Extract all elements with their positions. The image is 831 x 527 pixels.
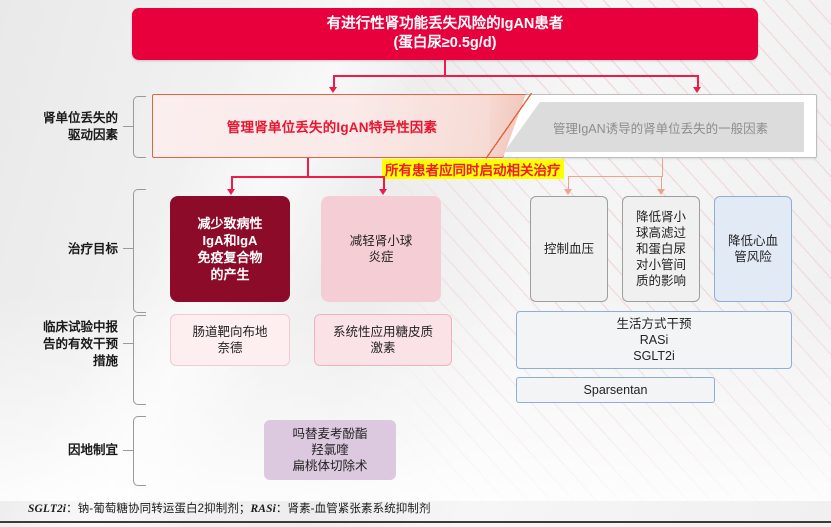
trial-box-lifestyle-rasi-sglt2i: 生活方式干预 RASi SGLT2i [516,311,792,369]
arrow-goal-reduce-inflammation [379,189,387,195]
arrow-band-right [693,87,701,93]
patient-population-line1: 有进行性肾功能丢失风险的IgAN患者 [327,15,564,34]
connector-right-horizontal [568,176,663,177]
slide-canvas: 有进行性肾功能丢失风险的IgAN患者 (蛋白尿≥0.5g/d) 管理IgAN诱导… [0,0,831,527]
bracket-stub-trials [123,343,133,344]
connector-top-stem [444,60,446,76]
connector-bp-drop [568,176,569,190]
arrow-band-left [329,87,337,93]
goal-box-reduce-cv-risk-text: 降低心血 管风险 [728,233,778,265]
patient-population-line2: (蛋白尿≥0.5g/d) [327,34,564,53]
trial-box-budesonide: 肠道靶向布地 奈德 [170,314,290,366]
footnote-def-rasi: ：肾素-血管紧张素系统抑制剂 [276,503,431,515]
goal-box-reduce-cv-risk: 降低心血 管风险 [714,196,792,302]
footnote: SGLT2i：钠-葡萄糖协同转运蛋白2抑制剂；RASi：肾素-血管紧张素系统抑制… [28,500,808,516]
connector-hyperfiltration-drop [661,176,662,190]
connector-goal1-drop [231,176,233,190]
bracket-goals [133,189,146,313]
connector-goal2-drop [383,176,385,190]
arrow-goal-reduce-hyperfiltration [657,189,665,195]
goal-box-control-bp: 控制血压 [530,196,608,302]
band-general-factors-label: 管理IgAN诱导的肾单位丢失的一般因素 [504,95,817,159]
band-specific-factors-label: 管理肾单位丢失的IgAN特异性因素 [182,94,482,158]
trial-box-corticosteroids-text: 系统性应用糖皮质 激素 [333,324,433,356]
footer-rule [0,521,831,523]
side-label-drivers: 肾单位丢失的 驱动因素 [14,100,118,154]
bracket-local [133,416,146,486]
trial-box-sparsentan: Sparsentan [516,377,715,403]
bracket-stub-drivers [123,126,133,127]
trial-box-sparsentan-text: Sparsentan [584,382,648,398]
goal-box-reduce-hyperfiltration-text: 降低肾小 球高滤过 和蛋白尿 对小管间 质的影响 [636,209,686,289]
goal-box-control-bp-text: 控制血压 [544,241,594,257]
footnote-abbr-rasi: RASi [251,503,276,515]
goal-box-reduce-inflammation-text: 减轻肾小球 炎症 [350,233,413,265]
band-general-factors-panel: 管理IgAN诱导的肾单位丢失的一般因素 [504,94,817,158]
bracket-drivers [133,96,146,158]
goal-box-reduce-iga: 减少致病性 IgA和IgA 免疫复合物 的产生 [170,196,290,302]
connector-top-horizontal [333,75,699,77]
side-label-trials: 临床试验中报 告的有效干预 措施 [8,318,118,370]
bracket-stub-local [123,450,133,451]
patient-population-box: 有进行性肾功能丢失风险的IgAN患者 (蛋白尿≥0.5g/d) [132,8,758,60]
footnote-abbr-sglt2i: SGLT2i [28,503,66,515]
goal-box-reduce-hyperfiltration: 降低肾小 球高滤过 和蛋白尿 对小管间 质的影响 [622,196,700,302]
connector-left-stem [307,158,309,177]
local-box-options-text: 吗替麦考酚酯 羟氯喹 扁桃体切除术 [292,426,367,474]
trial-box-budesonide-text: 肠道靶向布地 奈德 [192,324,267,356]
arrow-goal-reduce-iga [227,189,235,195]
bracket-stub-goals [123,248,133,249]
goal-box-reduce-iga-text: 减少致病性 IgA和IgA 免疫复合物 的产生 [197,215,262,283]
goal-box-reduce-inflammation: 减轻肾小球 炎症 [321,196,441,302]
arrow-goal-control-bp [564,189,572,195]
trial-box-corticosteroids: 系统性应用糖皮质 激素 [314,314,452,366]
connector-right-stem [662,158,663,177]
highlight-note: 所有患者应同时启动相关治疗 [382,159,564,179]
footnote-def-sglt2i: ：钠-葡萄糖协同转运蛋白2抑制剂； [66,503,250,515]
bracket-trials [133,315,146,405]
side-label-local: 因地制宜 [14,440,118,460]
trial-box-lifestyle-rasi-sglt2i-text: 生活方式干预 RASi SGLT2i [616,316,691,364]
connector-left-horizontal [231,176,385,178]
management-band: 管理IgAN诱导的肾单位丢失的一般因素 管理肾单位丢失的IgAN特异性因素 [152,94,817,158]
local-box-options: 吗替麦考酚酯 羟氯喹 扁桃体切除术 [264,420,396,480]
side-label-goals: 治疗目标 [14,235,118,263]
band-diagonal-divider [486,93,532,159]
